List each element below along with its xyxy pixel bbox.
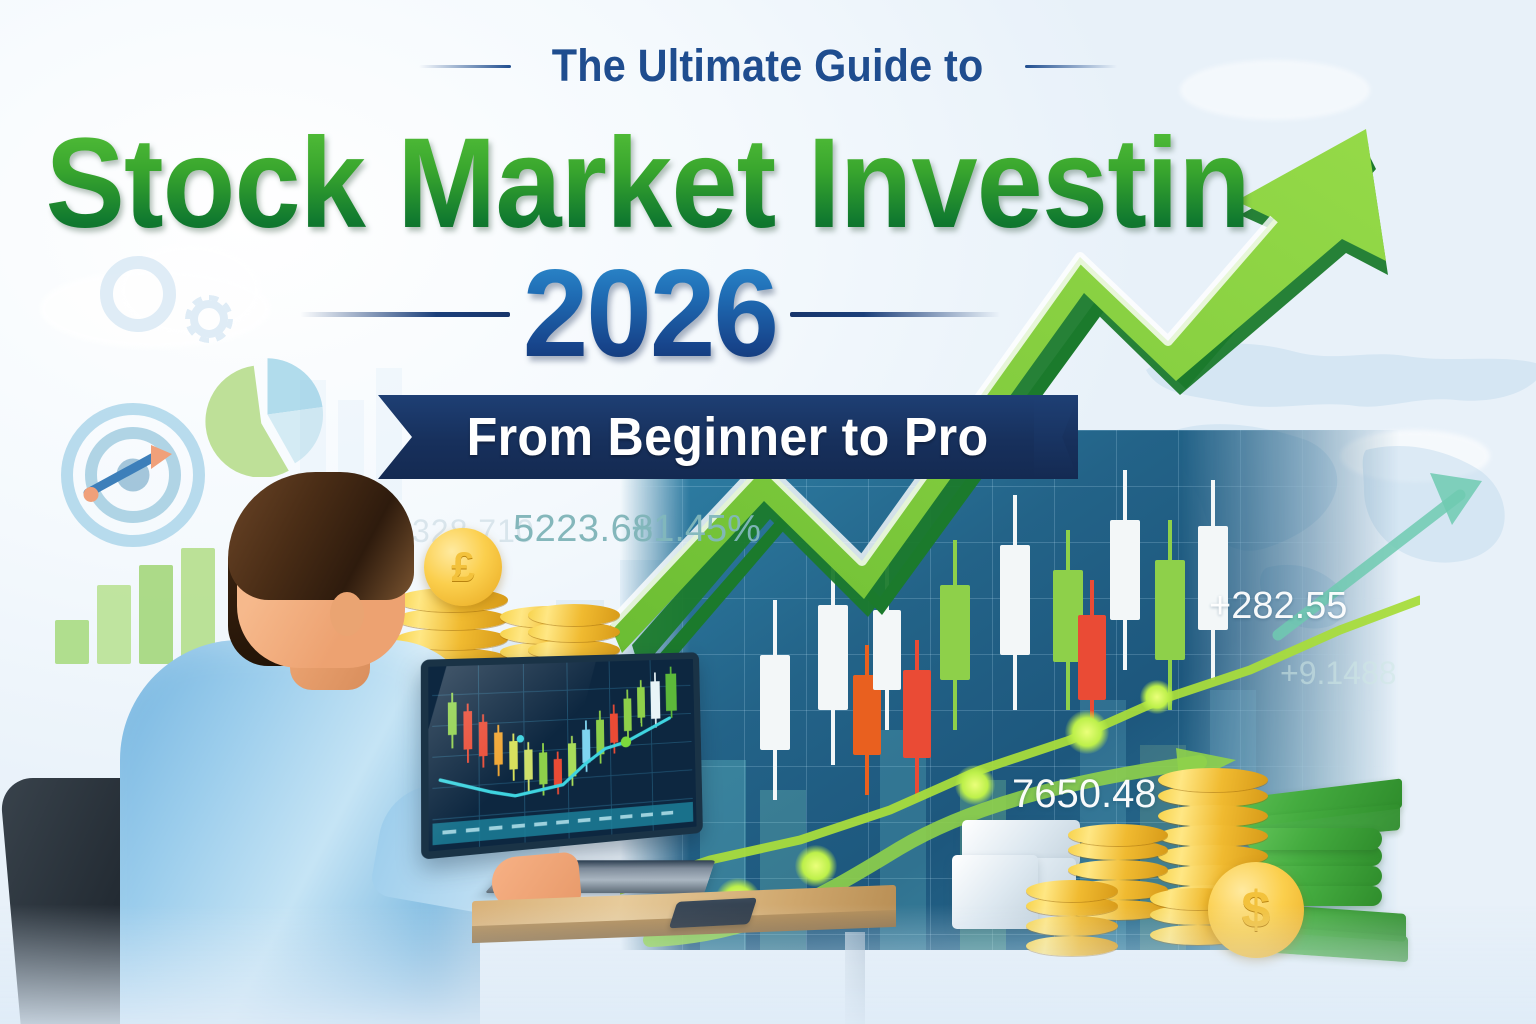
bottom-fade — [0, 904, 1536, 1024]
eyebrow-row: The Ultimate Guide to — [0, 40, 1536, 92]
person-hair — [228, 472, 414, 600]
year-rule-right — [790, 312, 1000, 317]
year-row: 2026 — [0, 252, 1300, 376]
points-gain-text: +282.55 — [1209, 585, 1347, 628]
decimal-feed-text: +9.1488 — [1280, 655, 1397, 692]
page-title: Stock Market Investing — [46, 120, 1255, 248]
target-icon — [58, 400, 208, 550]
poster-canvas: The Ultimate Guide to Stock Market Inves… — [0, 0, 1536, 1024]
year-text: 2026 — [517, 252, 783, 376]
year-rule-left — [300, 312, 510, 317]
eyebrow-dash-left — [419, 65, 511, 68]
laptop-screen[interactable] — [421, 652, 703, 860]
coin-currency-left: £ — [424, 528, 502, 606]
eyebrow-text: The Ultimate Guide to — [552, 40, 984, 92]
coin-symbol-left: £ — [451, 543, 474, 591]
subtitle-text: From Beginner to Pro — [467, 406, 989, 468]
index-change-text: +1.45% — [631, 508, 761, 551]
person-ear — [330, 592, 364, 636]
portfolio-value-text: 7650.48 — [1012, 772, 1157, 817]
eyebrow-dash-right — [1025, 65, 1117, 68]
subtitle-ribbon: From Beginner to Pro — [378, 395, 1078, 479]
